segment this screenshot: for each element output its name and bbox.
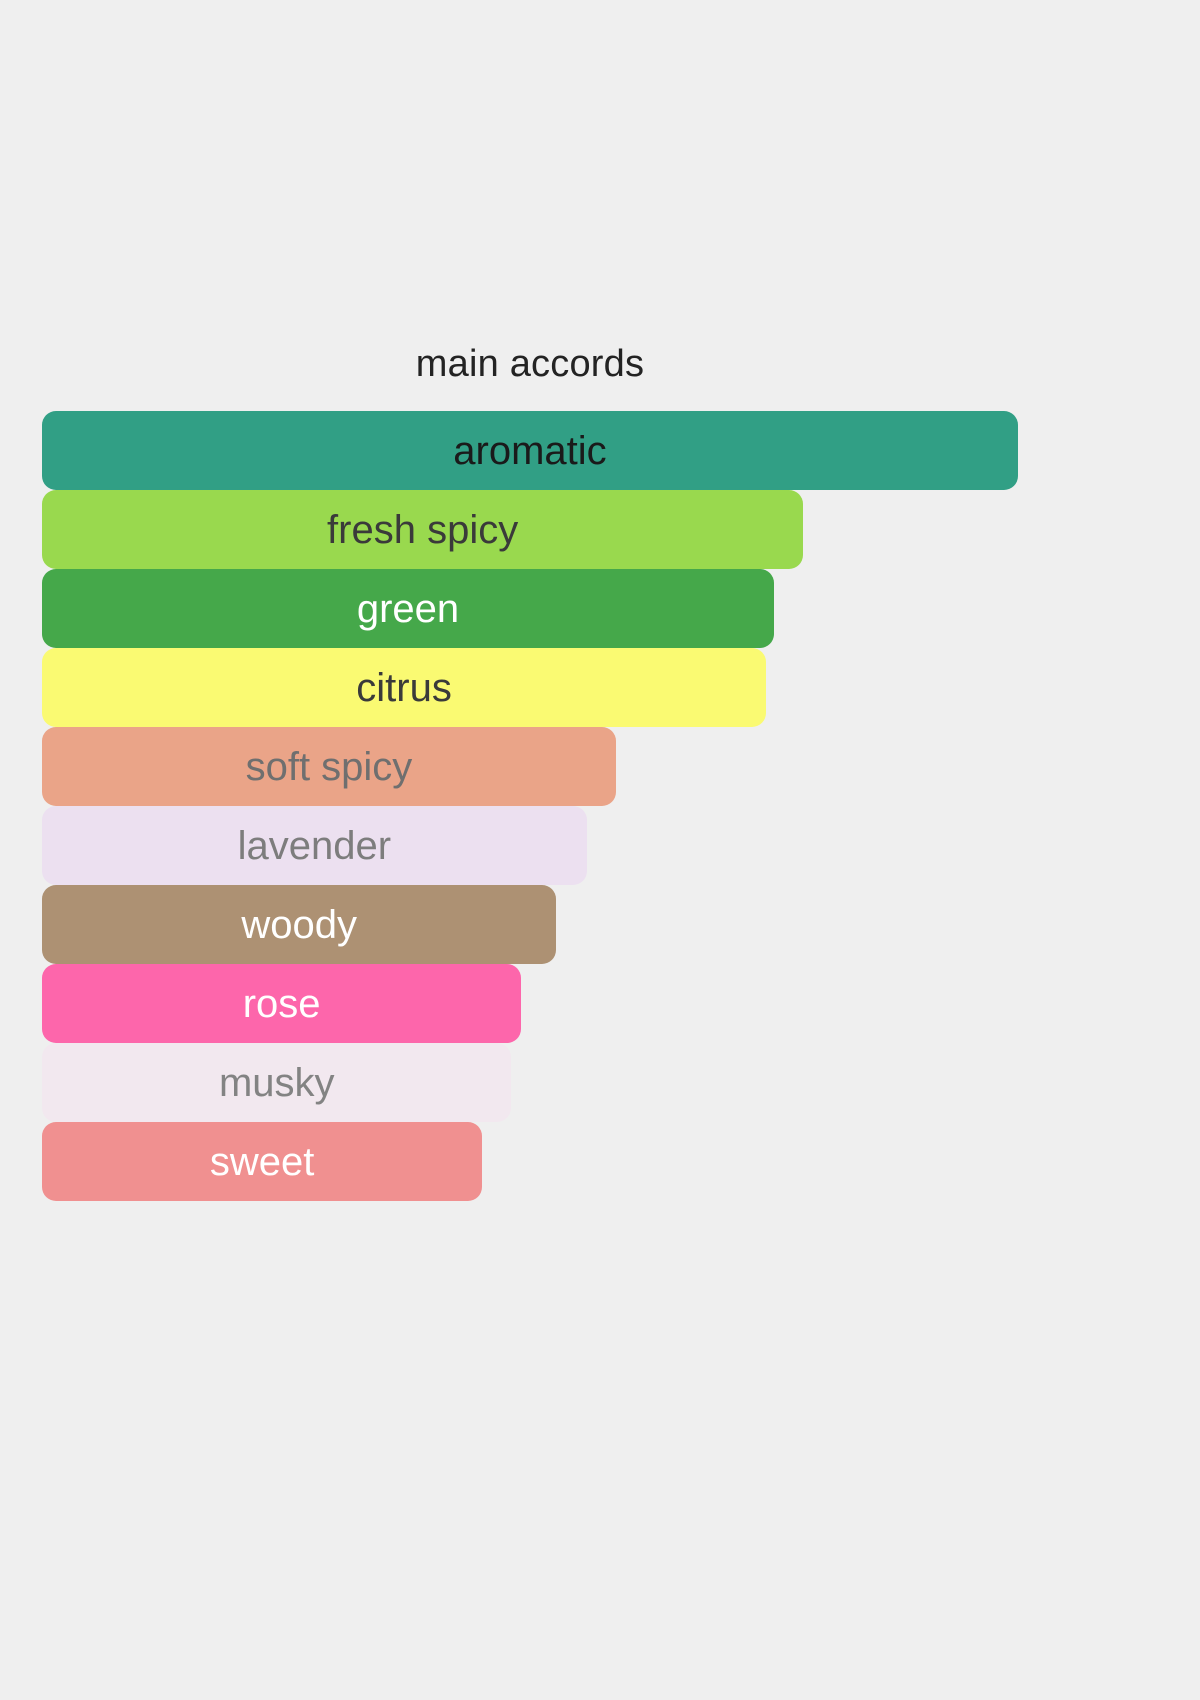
accord-bar-label-wrap: citrus — [42, 648, 766, 727]
accord-bar[interactable]: lavender — [42, 806, 587, 885]
accord-bar-label: musky — [219, 1063, 335, 1103]
accord-bar-row: rose — [42, 964, 1018, 1043]
accord-bar-row: aromatic — [42, 411, 1018, 490]
accord-bar-label: sweet — [210, 1142, 315, 1182]
accord-bar[interactable]: citrus — [42, 648, 766, 727]
accord-bar-label-wrap: lavender — [42, 806, 587, 885]
accord-bar-label-wrap: woody — [42, 885, 556, 964]
accord-bar[interactable]: soft spicy — [42, 727, 616, 806]
accord-bar-row: lavender — [42, 806, 1018, 885]
accord-bar[interactable]: aromatic — [42, 411, 1018, 490]
chart-title: main accords — [42, 345, 1018, 411]
accord-bar-label-wrap: musky — [42, 1043, 511, 1122]
accord-bar[interactable]: green — [42, 569, 774, 648]
accord-bar-row: soft spicy — [42, 727, 1018, 806]
accord-bar[interactable]: sweet — [42, 1122, 482, 1201]
accord-bar-label: aromatic — [453, 431, 606, 471]
accord-bar[interactable]: musky — [42, 1043, 511, 1122]
accord-bar-label-wrap: green — [42, 569, 774, 648]
accord-bar-label-wrap: sweet — [42, 1122, 482, 1201]
accord-bar-row: fresh spicy — [42, 490, 1018, 569]
accord-bar-label: woody — [241, 905, 357, 945]
page-root: main accords aromaticfresh spicygreencit… — [0, 0, 1200, 1700]
accord-bar-label: rose — [243, 984, 321, 1024]
accord-bar-row: sweet — [42, 1122, 1018, 1201]
main-accords-widget: main accords aromaticfresh spicygreencit… — [42, 345, 1018, 1201]
accord-bar-label-wrap: rose — [42, 964, 521, 1043]
accord-bar-row: woody — [42, 885, 1018, 964]
accord-bar-row: citrus — [42, 648, 1018, 727]
accord-bar-label-wrap: aromatic — [42, 411, 1018, 490]
accord-bar[interactable]: fresh spicy — [42, 490, 803, 569]
accord-bar-label: green — [357, 589, 459, 629]
accord-bar-row: musky — [42, 1043, 1018, 1122]
accord-bar[interactable]: rose — [42, 964, 521, 1043]
accord-bar-label: fresh spicy — [327, 510, 518, 550]
accord-bar-row: green — [42, 569, 1018, 648]
accord-bar-label: soft spicy — [246, 747, 413, 787]
accord-bar-list: aromaticfresh spicygreencitrussoft spicy… — [42, 411, 1018, 1201]
accord-bar-label-wrap: soft spicy — [42, 727, 616, 806]
accord-bar-label-wrap: fresh spicy — [42, 490, 803, 569]
accord-bar[interactable]: woody — [42, 885, 556, 964]
accord-bar-label: citrus — [356, 668, 452, 708]
accord-bar-label: lavender — [238, 826, 391, 866]
